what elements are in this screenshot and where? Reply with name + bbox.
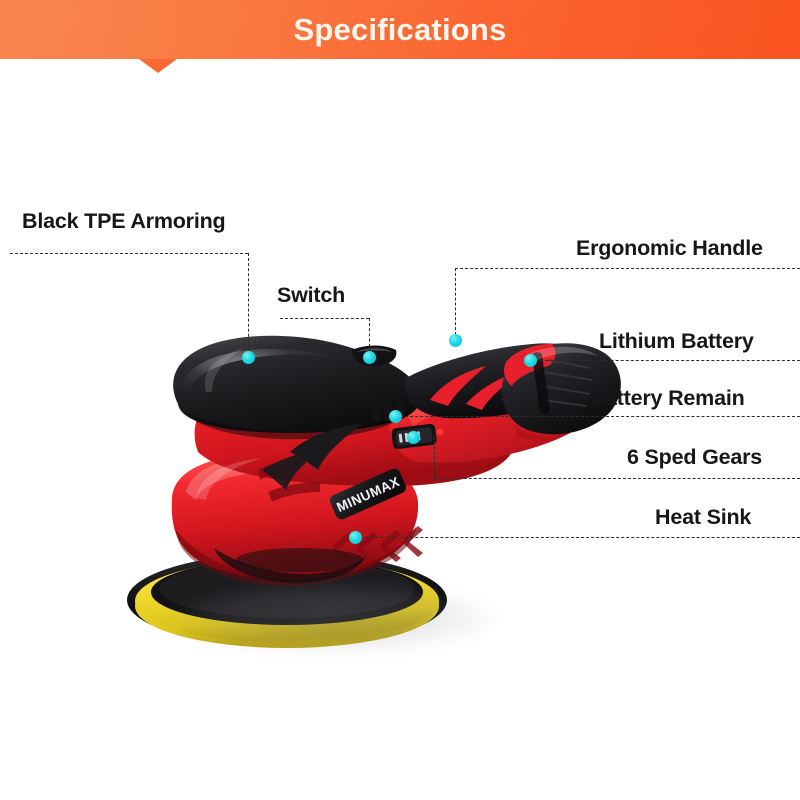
leader-line-h-switch <box>280 318 369 319</box>
leader-line-v-6-sped-gears <box>434 437 435 478</box>
callout-label-6-sped-gears: 6 Sped Gears <box>627 445 762 470</box>
specifications-page: Specifications <box>0 0 800 800</box>
leader-line-h-ergonomic-handle <box>455 268 800 269</box>
leader-line-h-6-sped-gears <box>434 478 800 479</box>
marker-dot-battery-remain[interactable] <box>389 410 402 423</box>
leader-line-h-heat-sink <box>355 537 800 538</box>
banner-notch-triangle <box>139 59 177 73</box>
svg-text:MINUMAX: MINUMAX <box>334 474 402 515</box>
callout-label-lithium-battery: Lithium Battery <box>599 329 754 354</box>
leader-line-v-black-tpe-armoring <box>248 253 249 357</box>
callout-label-black-tpe-armoring: Black TPE Armoring <box>22 209 226 234</box>
marker-dot-black-tpe-armoring[interactable] <box>242 351 255 364</box>
leader-line-v-ergonomic-handle <box>455 268 456 340</box>
product-drop-shadow <box>168 582 498 654</box>
marker-dot-switch[interactable] <box>363 351 376 364</box>
marker-dot-6-sped-gears[interactable] <box>407 431 420 444</box>
callout-label-heat-sink: Heat Sink <box>655 505 751 530</box>
callout-label-battery-remain: battery Remain <box>592 386 745 411</box>
callout-label-ergonomic-handle: Ergonomic Handle <box>576 236 763 261</box>
leader-line-h-battery-remain <box>395 416 800 417</box>
marker-dot-lithium-battery[interactable] <box>524 354 537 367</box>
marker-dot-heat-sink[interactable] <box>349 531 362 544</box>
leader-line-h-lithium-battery <box>530 360 800 361</box>
header-banner: Specifications <box>0 0 800 59</box>
page-title: Specifications <box>0 0 800 59</box>
marker-dot-ergonomic-handle[interactable] <box>449 334 462 347</box>
callout-label-switch: Switch <box>277 283 345 308</box>
leader-line-h-black-tpe-armoring <box>10 253 248 254</box>
